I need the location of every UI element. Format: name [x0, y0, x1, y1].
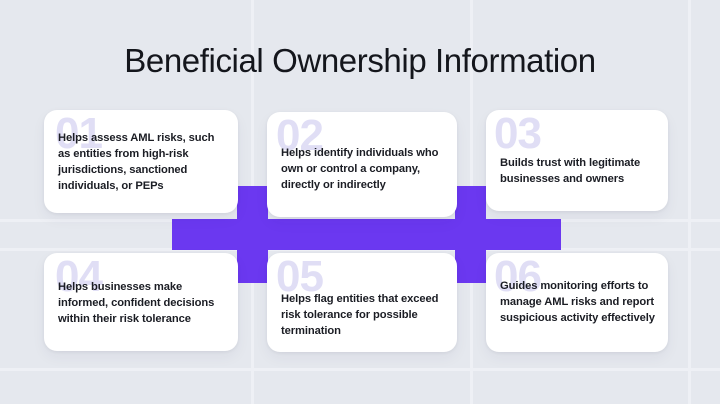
card-body-text: Helps flag entities that exceed risk tol… — [281, 291, 445, 339]
infographic-canvas: Beneficial Ownership Information 01 Help… — [0, 0, 720, 404]
gridline-horizontal — [0, 219, 720, 222]
card-body-text: Guides monitoring efforts to manage AML … — [500, 278, 656, 326]
page-title: Beneficial Ownership Information — [0, 42, 720, 80]
card-number-watermark: 03 — [494, 112, 541, 156]
info-card[interactable]: 01 Helps assess AML risks, such as entit… — [44, 110, 238, 213]
connector-riser-left — [237, 186, 268, 283]
info-card[interactable]: 06 Guides monitoring efforts to manage A… — [486, 253, 668, 352]
card-body-text: Helps businesses make informed, confiden… — [58, 279, 226, 327]
card-body-text: Builds trust with legitimate businesses … — [500, 155, 656, 187]
connector-riser-right — [455, 186, 486, 283]
info-card[interactable]: 04 Helps businesses make informed, confi… — [44, 253, 238, 351]
card-body-text: Helps identify individuals who own or co… — [281, 145, 445, 193]
card-body-text: Helps assess AML risks, such as entities… — [58, 130, 226, 194]
gridline-horizontal — [0, 248, 720, 251]
info-card[interactable]: 02 Helps identify individuals who own or… — [267, 112, 457, 217]
connector-horizontal-bar — [172, 219, 561, 250]
info-card[interactable]: 05 Helps flag entities that exceed risk … — [267, 253, 457, 352]
gridline-horizontal — [0, 368, 720, 371]
info-card[interactable]: 03 Builds trust with legitimate business… — [486, 110, 668, 211]
